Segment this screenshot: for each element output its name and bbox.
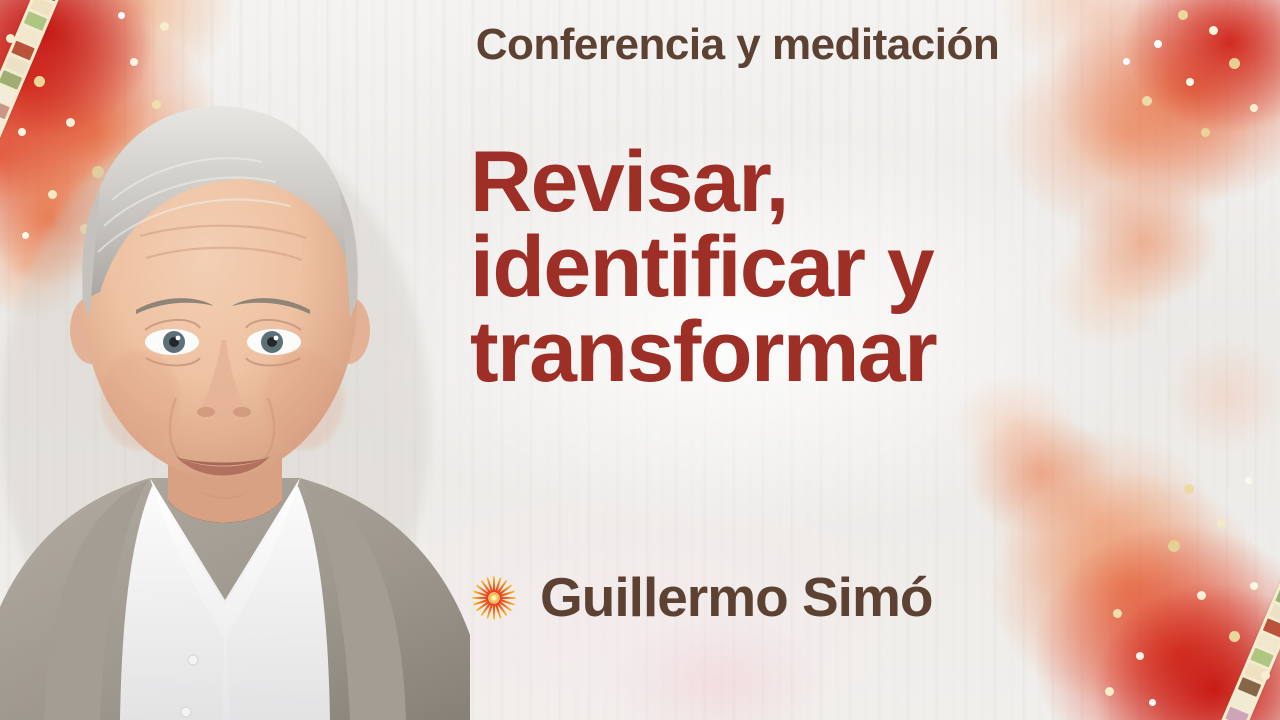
event-poster: Conferencia y meditación Revisar, identi…: [0, 0, 1280, 720]
speaker-name: Guillermo Simó: [540, 570, 932, 625]
sunburst-icon: [470, 574, 518, 622]
headline-line-3: transformar: [470, 310, 1130, 395]
speaker-byline: Guillermo Simó: [470, 570, 1130, 625]
event-kicker: Conferencia y meditación: [0, 22, 1280, 68]
headline-line-1: Revisar,: [470, 140, 1130, 225]
headline-line-2: identificar y: [470, 225, 1130, 310]
event-headline: Revisar, identificar y transformar: [470, 140, 1130, 395]
speaker-portrait: [0, 0, 470, 720]
